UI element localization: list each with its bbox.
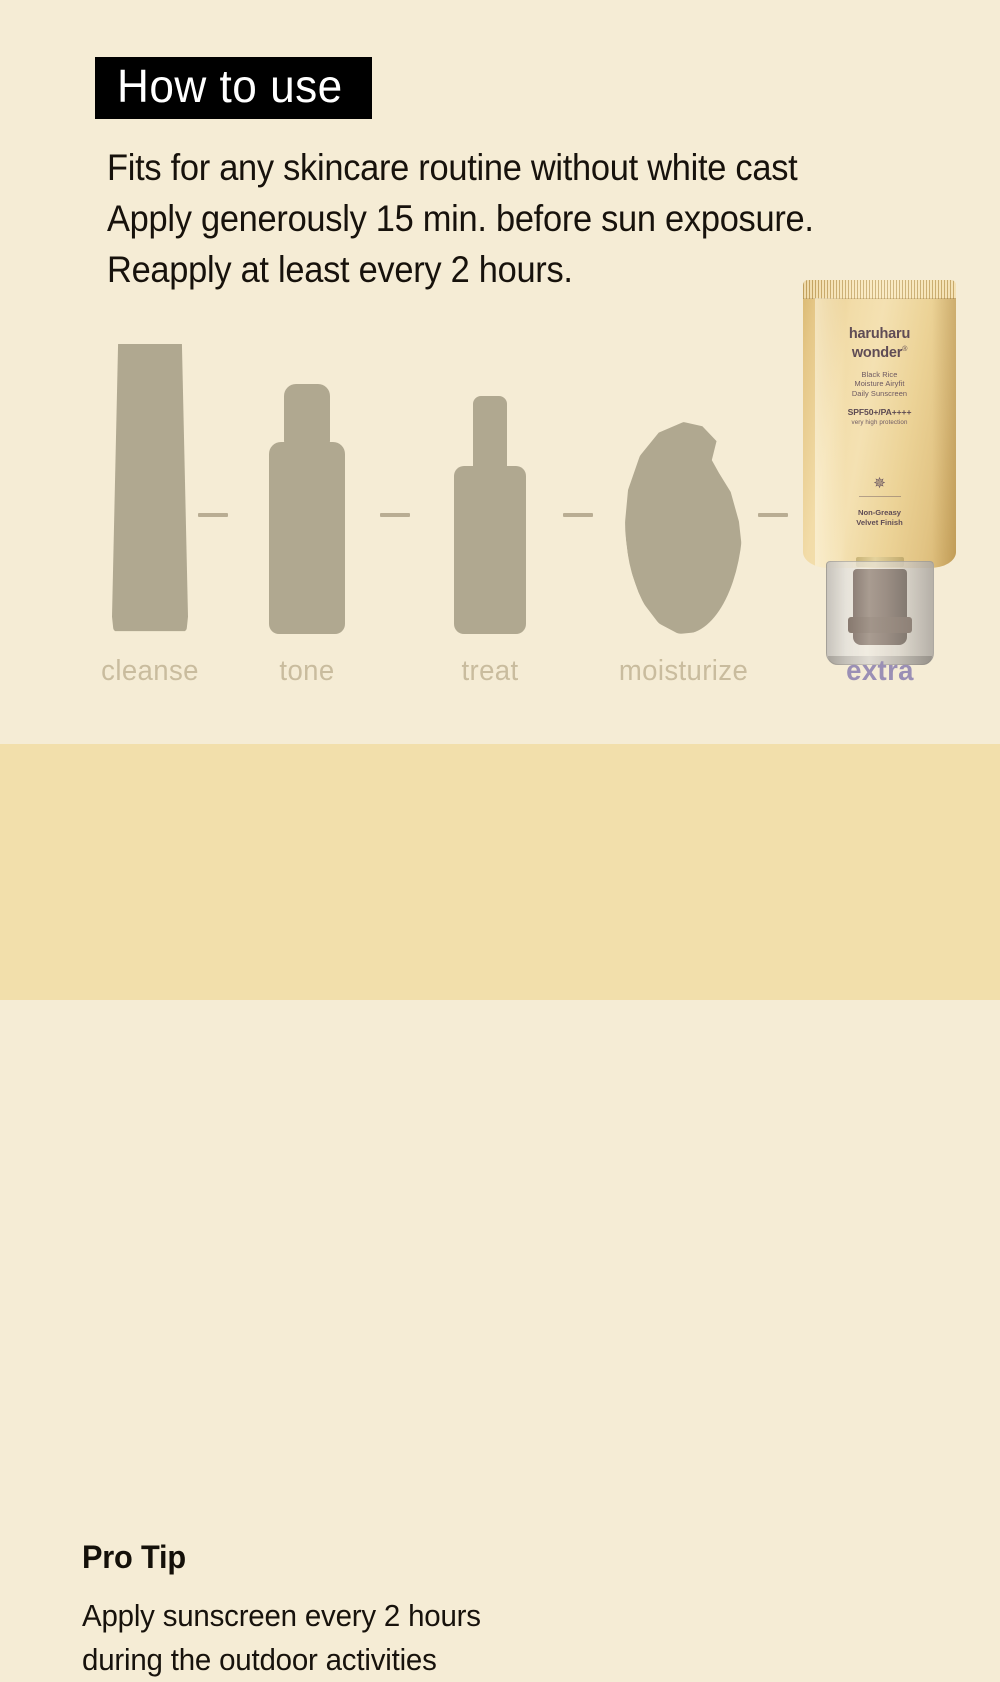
pro-tip-line-2: during the outdoor activities [82,1638,747,1682]
routine-step-treat: treat [420,290,560,710]
product-finish-claim: Non-Greasy Velvet Finish [803,508,956,528]
moisturize-blob-icon [596,422,771,634]
routine-step-extra: haruharu wonder® Black Rice Moisture Air… [790,290,970,710]
registered-trademark-icon: ® [902,346,907,353]
cap-nozzle-ring [848,617,912,633]
product-finish-line-2: Velvet Finish [803,518,956,528]
step-separator-2 [380,513,410,517]
product-tube-body: haruharu wonder® Black Rice Moisture Air… [803,280,956,568]
infographic-page: How to use Fits for any skincare routine… [0,0,1000,1000]
product-description-line-1: Black Rice [803,370,956,380]
product-description: Black Rice Moisture Airyfit Daily Sunscr… [803,370,956,399]
pro-tip-body: Apply sunscreen every 2 hours during the… [82,1594,782,1682]
intro-line-1: Fits for any skincare routine without wh… [107,142,879,193]
step-separator-1 [198,513,228,517]
product-description-line-2: Moisture Airyfit [803,379,956,389]
pro-tip-block: Pro Tip Apply sunscreen every 2 hours du… [82,1539,782,1682]
routine-step-cleanse: cleanse [55,290,245,710]
step-separator-3 [563,513,593,517]
product-description-line-3: Daily Sunscreen [803,389,956,399]
intro-paragraph: Fits for any skincare routine without wh… [107,142,937,295]
tone-bottle-icon [237,384,377,634]
routine-step-label-treat: treat [424,655,557,688]
brand-name-line-2: wonder® [803,342,956,361]
routine-steps: cleanse tone treat [0,290,1000,710]
routine-step-tone: tone [237,290,377,710]
product-pump-cap [826,561,934,665]
spf-rating: SPF50+/PA++++ [803,407,956,417]
routine-step-moisturize: moisturize [596,290,771,710]
sunburst-icon: ✵ [803,476,956,497]
section-heading-box: How to use [95,57,372,119]
routine-step-label-cleanse: cleanse [60,655,241,688]
intro-line-3: Reapply at least every 2 hours. [107,244,879,295]
routine-step-label-extra: extra [795,655,966,688]
routine-step-label-tone: tone [241,655,374,688]
pro-tip-section: Pro Tip Apply sunscreen every 2 hours du… [0,744,1000,1000]
product-tube: haruharu wonder® Black Rice Moisture Air… [790,280,970,650]
spf-subtitle: very high protection [803,419,956,426]
how-to-use-section: How to use Fits for any skincare routine… [0,0,1000,744]
cleanse-tube-icon [55,344,245,634]
cap-inner-nozzle [853,569,907,645]
tube-crimp-seal [803,280,956,299]
pro-tip-title: Pro Tip [82,1539,754,1576]
pro-tip-line-1: Apply sunscreen every 2 hours [82,1594,747,1638]
label-divider [859,496,901,497]
intro-line-2: Apply generously 15 min. before sun expo… [107,193,879,244]
product-finish-line-1: Non-Greasy [803,508,956,518]
product-label: haruharu wonder® Black Rice Moisture Air… [803,326,956,426]
routine-step-label-moisturize: moisturize [600,655,766,688]
page-title: How to use [117,63,343,109]
treat-serum-bottle-icon [420,396,560,634]
step-separator-4 [758,513,788,517]
brand-name-line-1: haruharu [803,326,956,342]
